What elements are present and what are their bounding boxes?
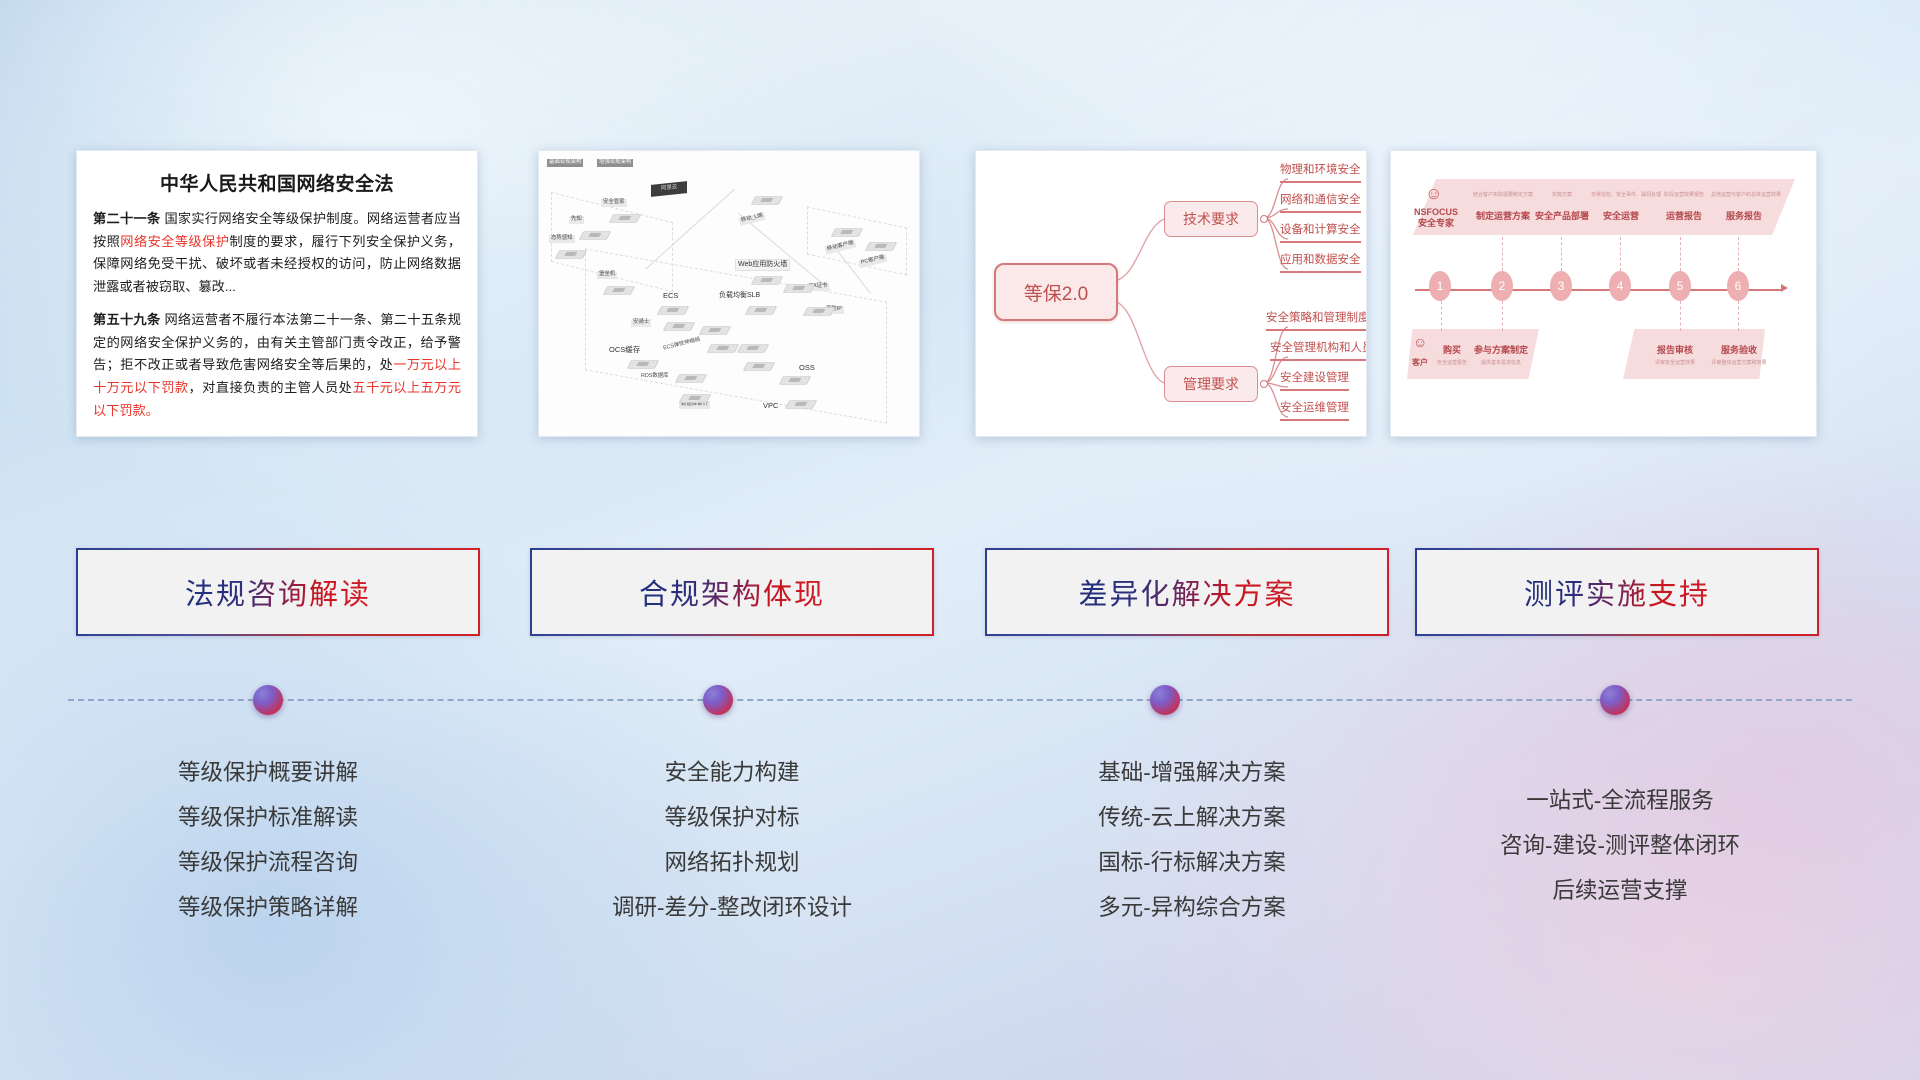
list-item: 等级保护流程咨询 — [68, 840, 468, 885]
list-item: 后续运营支撑 — [1410, 868, 1830, 913]
section-items-col-4: 一站式-全流程服务 咨询-建设-测评整体闭环 后续运营支撑 — [1410, 778, 1830, 913]
timeline-bead-3[interactable] — [1150, 685, 1180, 715]
list-item: 网络拓扑规划 — [522, 840, 942, 885]
list-item: 安全能力构建 — [522, 750, 942, 795]
section-items-col-3: 基础-增强解决方案 传统-云上解决方案 国标-行标解决方案 多元-异构综合方案 — [982, 750, 1402, 930]
list-item: 等级保护概要讲解 — [68, 750, 468, 795]
page-root: 中华人民共和国网络安全法 第二十一条 国家实行网络安全等级保护制度。网络运营者应… — [0, 0, 1920, 1080]
list-item: 传统-云上解决方案 — [982, 795, 1402, 840]
list-item: 等级保护标准解读 — [68, 795, 468, 840]
section-items-col-1: 等级保护概要讲解 等级保护标准解读 等级保护流程咨询 等级保护策略详解 — [68, 750, 468, 930]
timeline-bead-1[interactable] — [253, 685, 283, 715]
section-title-box-1[interactable]: 法规咨询解读 — [76, 548, 480, 636]
list-item: 多元-异构综合方案 — [982, 885, 1402, 930]
timeline-bead-2[interactable] — [703, 685, 733, 715]
list-item: 一站式-全流程服务 — [1410, 778, 1830, 823]
list-item: 咨询-建设-测评整体闭环 — [1410, 823, 1830, 868]
timeline-bead-4[interactable] — [1600, 685, 1630, 715]
section-title-label-4: 测评实施支持 — [1524, 571, 1710, 613]
list-item: 调研-差分-整改闭环设计 — [522, 885, 942, 930]
section-title-label-1: 法规咨询解读 — [185, 571, 371, 613]
section-items-col-2: 安全能力构建 等级保护对标 网络拓扑规划 调研-差分-整改闭环设计 — [522, 750, 942, 930]
list-item: 国标-行标解决方案 — [982, 840, 1402, 885]
timeline-rail — [68, 699, 1852, 701]
list-item: 基础-增强解决方案 — [982, 750, 1402, 795]
section-title-box-2[interactable]: 合规架构体现 — [530, 548, 934, 636]
section-title-label-2: 合规架构体现 — [639, 571, 825, 613]
section-title-box-3[interactable]: 差异化解决方案 — [985, 548, 1389, 636]
section-title-box-4[interactable]: 测评实施支持 — [1415, 548, 1819, 636]
list-item: 等级保护策略详解 — [68, 885, 468, 930]
list-item: 等级保护对标 — [522, 795, 942, 840]
section-title-label-3: 差异化解决方案 — [1078, 571, 1295, 613]
